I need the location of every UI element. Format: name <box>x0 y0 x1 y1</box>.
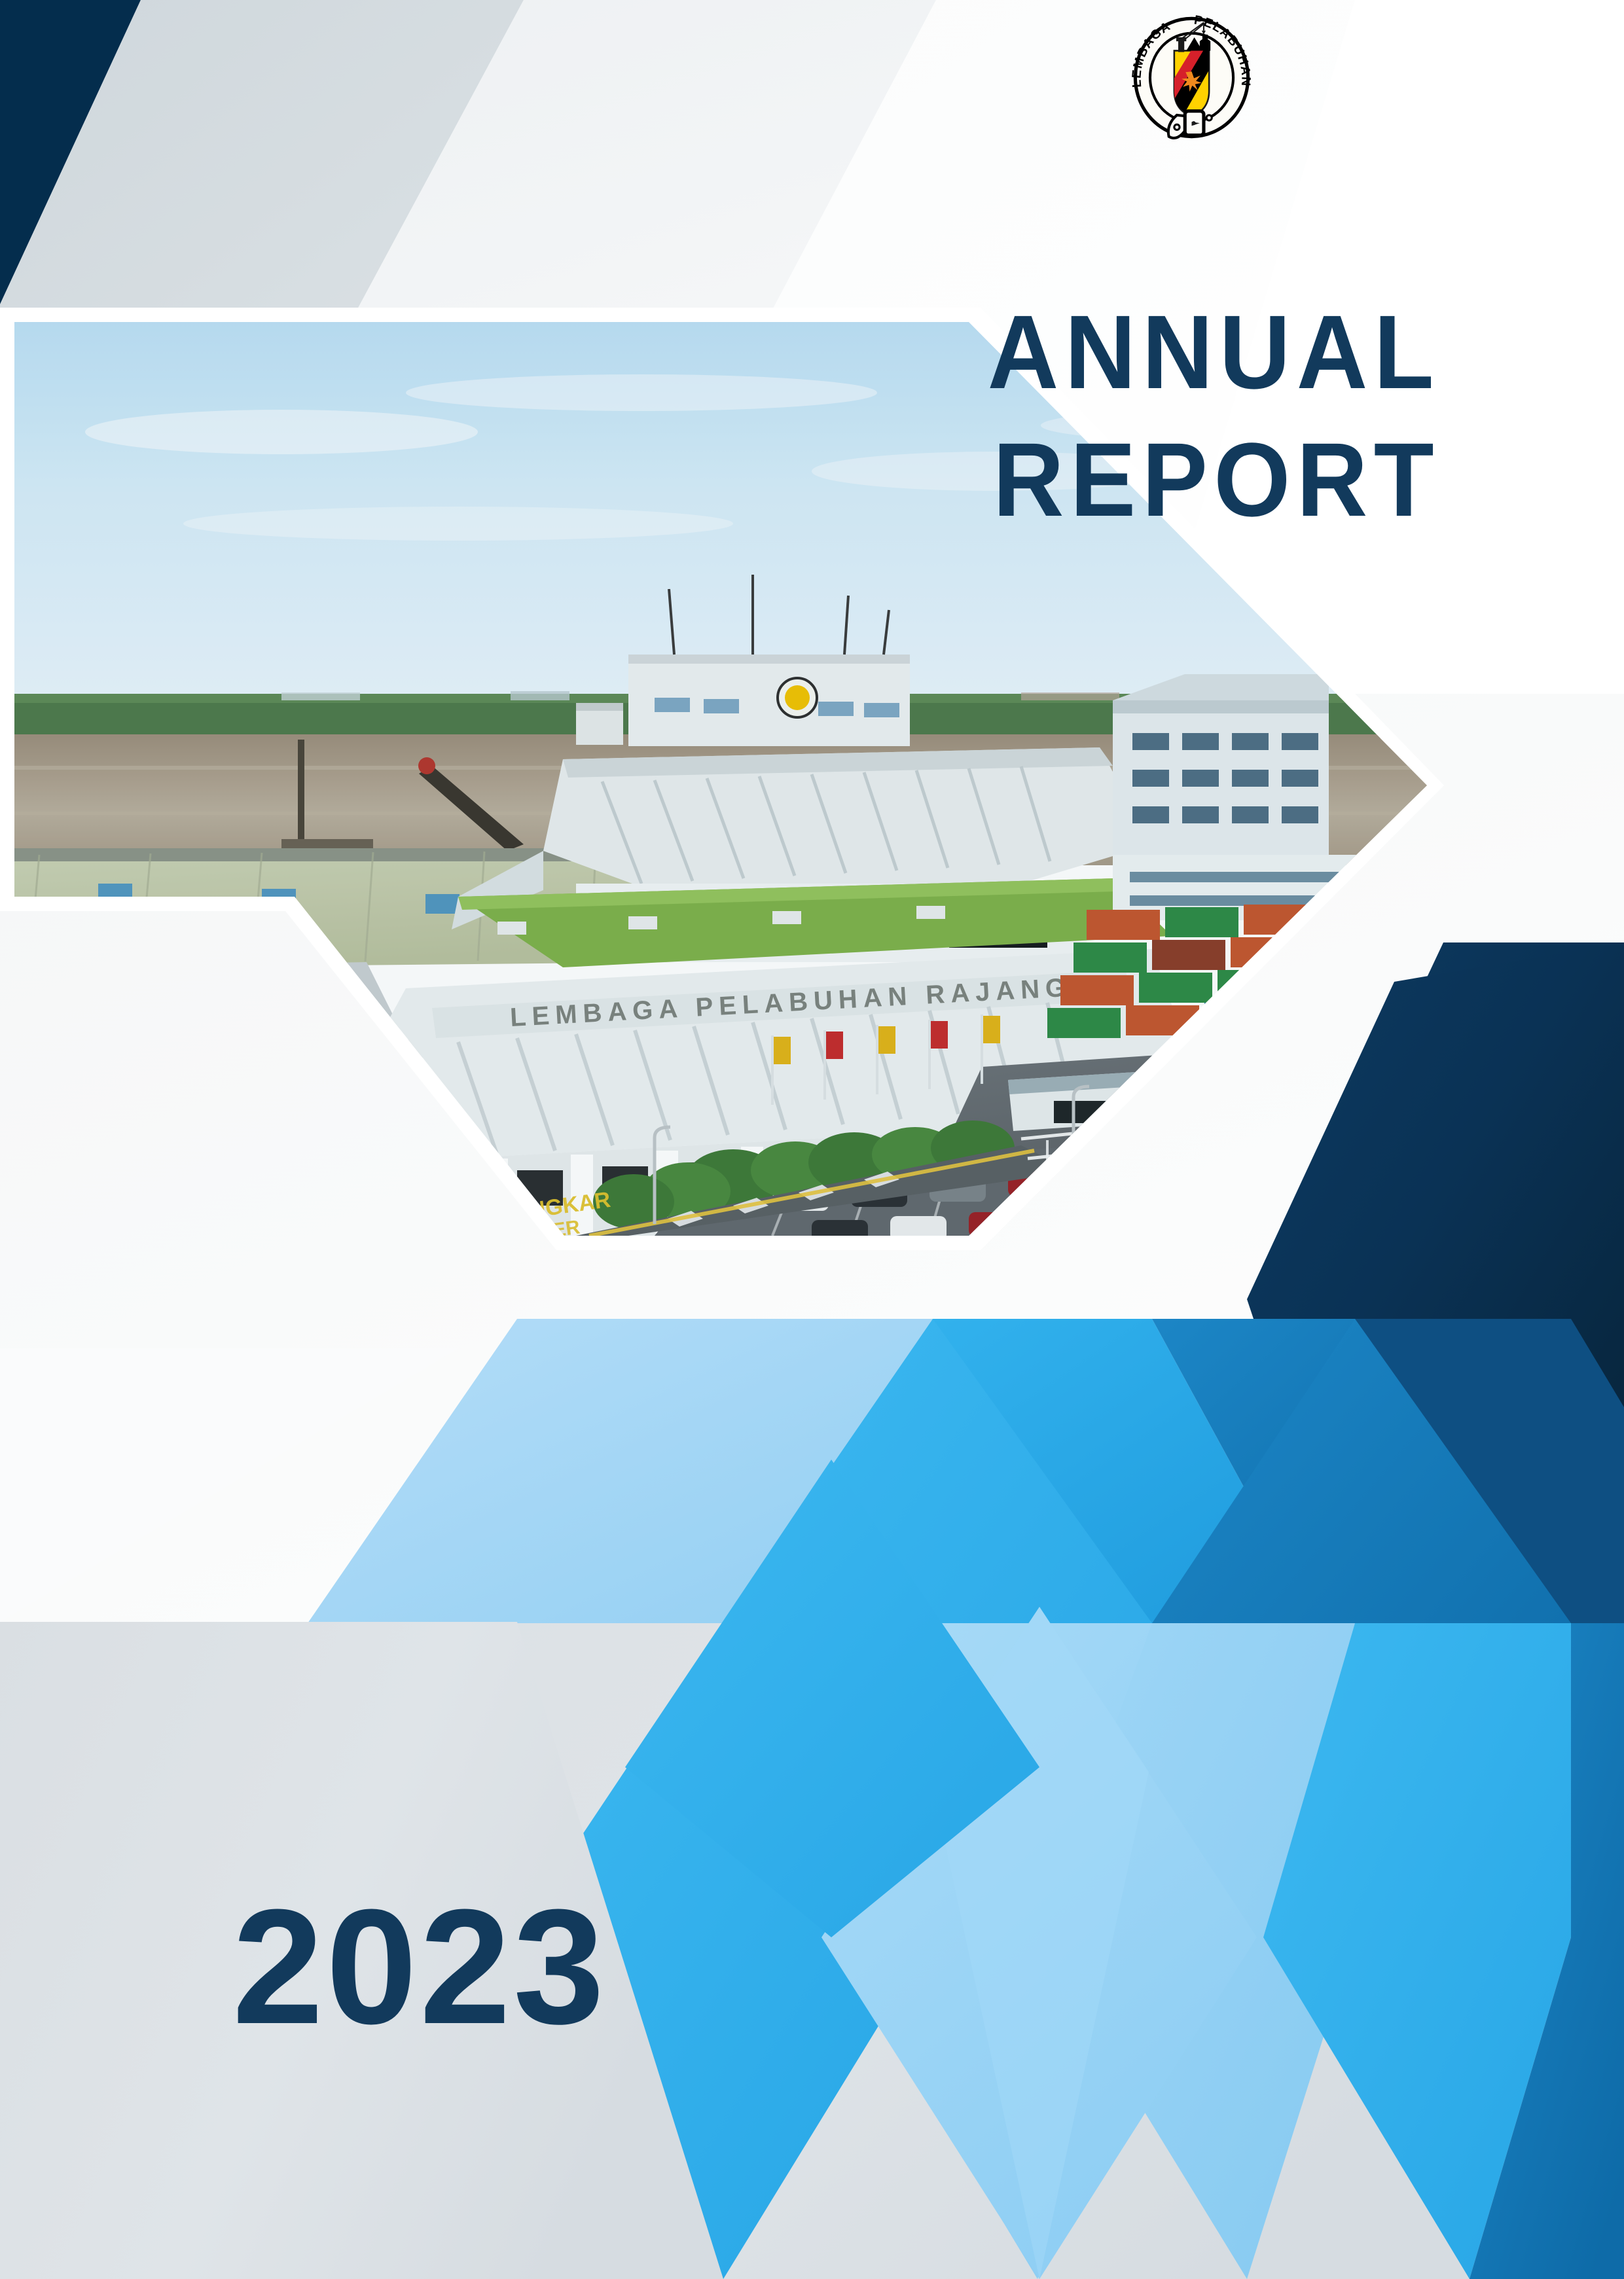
report-year: 2023 <box>232 1885 607 2049</box>
annual-report-cover-page: LEMBAGA PELABUHAN RAJANG <box>0 0 1624 2279</box>
lembaga-pelabuhan-rajang-logo: LEMBAGA PELABUHAN RAJANG <box>1125 12 1259 146</box>
title-line-annual: ANNUAL <box>948 288 1440 416</box>
title-line-report: REPORT <box>948 416 1440 543</box>
report-title: ANNUAL REPORT <box>916 288 1440 543</box>
